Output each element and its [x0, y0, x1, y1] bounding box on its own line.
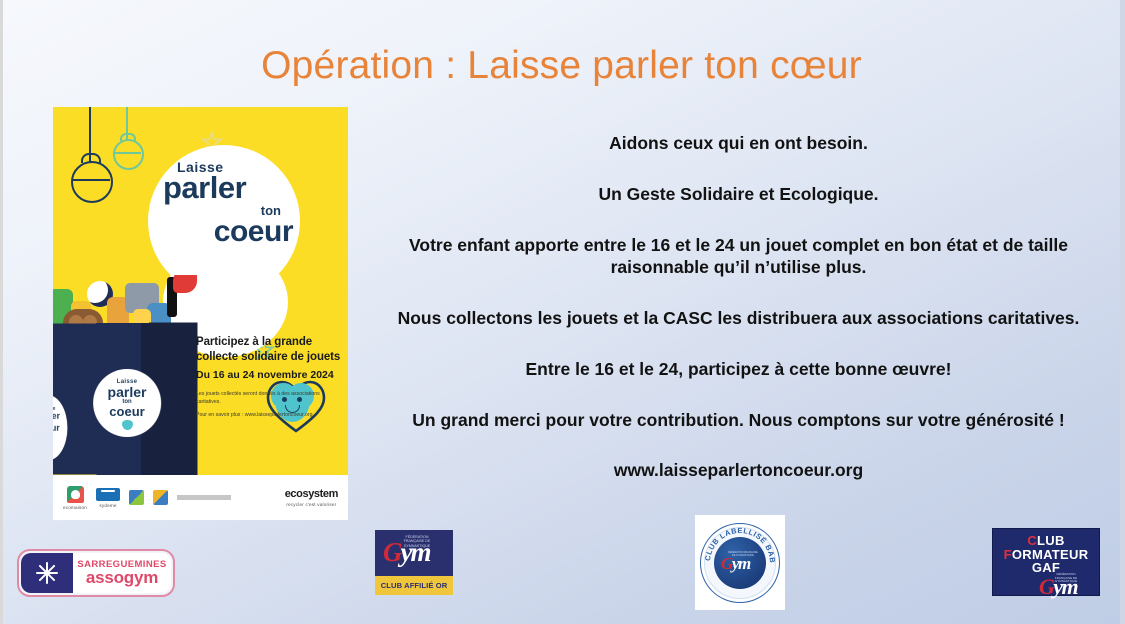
badge-core: FÉDÉRATION FRANÇAISE DE GYMNASTIQUE Gym — [714, 537, 766, 589]
gym-wordmark: Gym — [721, 555, 750, 572]
sydeme-mark-icon — [96, 488, 120, 501]
partner-caption: recycler c'est valoriser — [286, 502, 336, 507]
paragraph-1: Aidons ceux qui en ont besoin. — [371, 132, 1106, 155]
poster-more-info: Pour en savoir plus : www.laisseparlerto… — [196, 412, 344, 420]
formateur-line-3: GAF — [993, 561, 1099, 575]
partner-logo-sydeme: sydeme — [96, 488, 120, 508]
rattle-icon — [71, 161, 113, 203]
poster-note: Les jouets collectés seront donnés à des… — [196, 391, 344, 406]
page-title: Opération : Laisse parler ton cœur — [3, 44, 1120, 88]
partner-logo-square-yellow — [153, 490, 168, 505]
lines-placeholder-icon — [177, 495, 231, 499]
baby-gym-badge: CLUB LABELLISÉ BABY GYM FÉDÉRATION FRANÇ… — [700, 523, 780, 603]
ecosystem-wordmark: ecosystem — [285, 488, 338, 500]
rattle-cap-icon — [120, 133, 136, 141]
assogym-name: assogym — [86, 570, 158, 586]
box-side-line-3: coeur — [53, 424, 67, 433]
formateur-line-1: CLUB — [993, 534, 1099, 548]
poster-logo-line-4: coeur — [163, 218, 293, 247]
campaign-poster-image: ★ ★ ★ Laisse parler ton coeur — [53, 107, 348, 520]
assogym-emblem — [21, 553, 73, 593]
partner-caption: ecomaison — [63, 505, 87, 510]
partner-logo-lines — [177, 495, 231, 499]
poster-headline: Participez à la grande collecte solidair… — [196, 335, 344, 365]
rattle-cap-icon — [81, 153, 101, 163]
partner-logo-square-green — [129, 490, 144, 505]
partner-logo-ecosystem: ecosystem recycler c'est valoriser — [285, 488, 338, 507]
square-mark-icon — [153, 490, 168, 505]
slide-canvas: Opération : Laisse parler ton cœur ★ ★ ★… — [0, 0, 1125, 624]
poster-dates: Du 16 au 24 novembre 2024 — [196, 369, 344, 383]
website-url[interactable]: www.laisseparlertoncoeur.org — [371, 459, 1106, 482]
poster-partner-strip: ecomaison sydeme ecosystem recycler c'es… — [53, 475, 348, 520]
box-logo-line-4: coeur — [93, 405, 161, 418]
logo-club-formateur-gaf: CLUB FORMATEUR GAF FÉDÉRATION FRANÇAISE … — [992, 528, 1100, 596]
partner-caption: sydeme — [99, 503, 116, 508]
gym-wordmark: Gym — [1039, 576, 1077, 598]
box-brand-lockup: Laisse parler ton coeur — [93, 369, 161, 437]
poster-copy-block: Participez à la grande collecte solidair… — [196, 335, 344, 420]
box-brand-lockup-side: Laisse parler coeur — [53, 395, 67, 461]
poster-logo-line-2: parler — [163, 173, 293, 202]
logo-sarreguemines-assogym: SARREGUEMINES assogym — [17, 549, 175, 597]
paragraph-5: Entre le 16 et le 24, participez à cette… — [371, 358, 1106, 381]
starburst-icon — [34, 560, 60, 586]
rattle-icon — [113, 139, 144, 170]
box-heart-icon — [122, 420, 133, 430]
partner-logo-ecomaison: ecomaison — [63, 486, 87, 510]
paragraph-6: Un grand merci pour votre contribution. … — [371, 409, 1106, 432]
poster-brand-lockup: Laisse parler ton coeur — [163, 159, 293, 247]
paragraph-4: Nous collectons les jouets et la CASC le… — [371, 307, 1106, 330]
house-icon — [67, 486, 84, 503]
toy-donation-box-illustration: Laisse parler ton coeur Laisse parler co… — [53, 322, 198, 475]
paragraph-2: Un Geste Solidaire et Ecologique. — [371, 183, 1106, 206]
message-body: Aidons ceux qui en ont besoin. Un Geste … — [371, 132, 1106, 482]
assogym-wordmark: SARREGUEMINES assogym — [73, 553, 171, 593]
box-side-line-2: parler — [53, 412, 67, 421]
paragraph-3: Votre enfant apporte entre le 16 et le 2… — [371, 234, 1106, 280]
gym-wordmark: Gym — [383, 539, 430, 566]
square-mark-icon — [129, 490, 144, 505]
formateur-line-2: FORMATEUR — [993, 548, 1099, 562]
logo-club-affilie-or: FÉDÉRATION FRANÇAISE DE GYMNASTIQUE Gym … — [375, 530, 453, 595]
gym-federation-mark: FÉDÉRATION FRANÇAISE DE GYMNASTIQUE Gym — [993, 576, 1099, 600]
box-logo-line-2: parler — [93, 385, 161, 399]
poster-yellow-area: ★ ★ ★ Laisse parler ton coeur — [53, 107, 348, 475]
logo-club-labellise-baby-gym: CLUB LABELLISÉ BABY GYM FÉDÉRATION FRANÇ… — [695, 515, 785, 610]
club-affilie-label: CLUB AFFILIÉ OR — [381, 581, 448, 590]
club-affilie-badge: CLUB AFFILIÉ OR — [375, 576, 453, 595]
gym-federation-mark: FÉDÉRATION FRANÇAISE DE GYMNASTIQUE Gym — [375, 530, 453, 572]
